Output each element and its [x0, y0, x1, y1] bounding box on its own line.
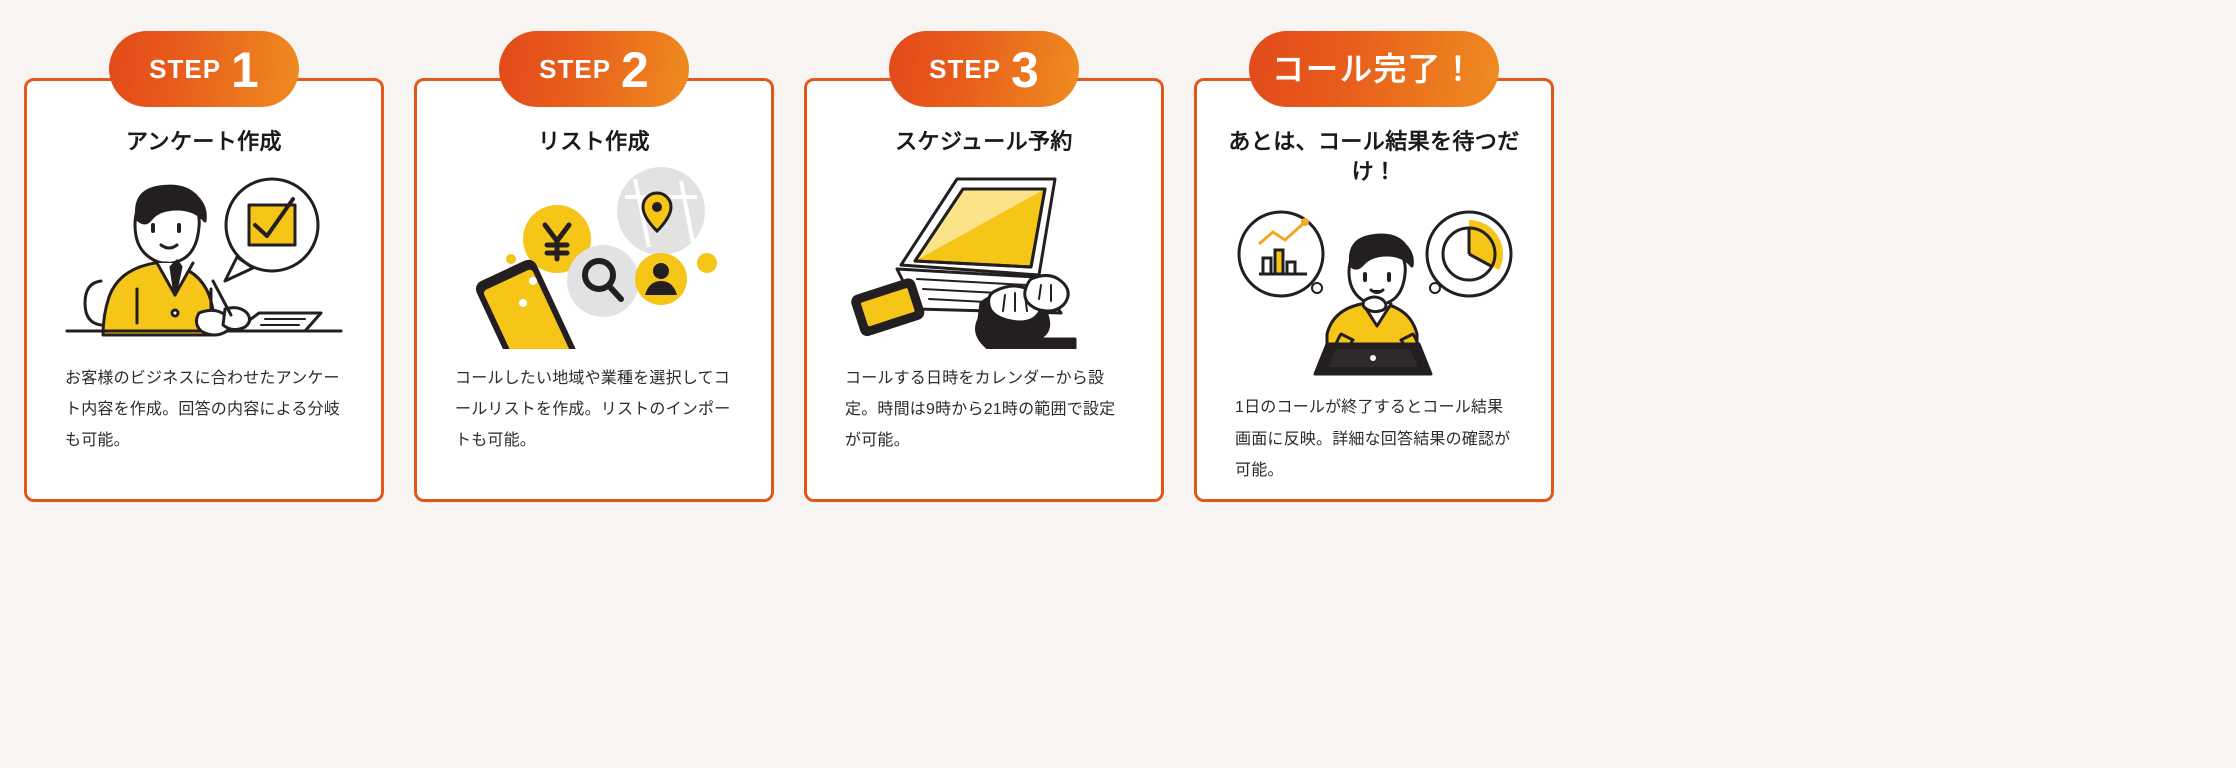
step-card-title-4: あとは、コール結果を待つだけ！ — [1224, 127, 1524, 186]
step-badge-word-1: STEP — [149, 56, 221, 82]
step-card-title-1: アンケート作成 — [54, 127, 354, 157]
step-badge-word-2: STEP — [539, 56, 611, 82]
steps-card-list: STEP 1 アンケート作成 — [24, 78, 1554, 502]
step-badge-number-3: 3 — [1011, 45, 1039, 95]
step-card-title-3: スケジュール予約 — [834, 127, 1134, 157]
person-laptop-analytics-icon — [1224, 192, 1524, 378]
step-badge-2: STEP 2 — [499, 31, 689, 107]
step-badge-1: STEP 1 — [109, 31, 299, 107]
step-card-body-4: 1日のコールが終了するとコール結果画面に反映。詳細な回答結果の確認が可能。 — [1235, 392, 1513, 486]
smartphone-map-search-list-icon — [444, 163, 744, 349]
businessman-writing-survey-icon — [54, 163, 354, 349]
step-card-4: コール完了！ あとは、コール結果を待つだけ！ — [1194, 78, 1554, 502]
laptop-typing-schedule-icon — [834, 163, 1134, 349]
completion-badge-label: コール完了！ — [1272, 53, 1476, 85]
step-card-body-2: コールしたい地域や業種を選択してコールリストを作成。リストのインポートも可能。 — [455, 363, 733, 457]
step-card-body-3: コールする日時をカレンダーから設定。時間は9時から21時の範囲で設定が可能。 — [845, 363, 1123, 457]
step-card-body-1: お客様のビジネスに合わせたアンケート内容を作成。回答の内容による分岐も可能。 — [65, 363, 343, 457]
step-card-2: STEP 2 リスト作成 — [414, 78, 774, 502]
step-badge-3: STEP 3 — [889, 31, 1079, 107]
step-card-title-2: リスト作成 — [444, 127, 744, 157]
step-badge-word-3: STEP — [929, 56, 1001, 82]
step-badge-number-2: 2 — [621, 45, 649, 95]
step-card-1: STEP 1 アンケート作成 — [24, 78, 384, 502]
completion-badge: コール完了！ — [1249, 31, 1499, 107]
step-badge-number-1: 1 — [231, 45, 259, 95]
steps-flow-board: STEP 1 アンケート作成 — [0, 0, 2236, 768]
step-card-3: STEP 3 スケジュール予約 — [804, 78, 1164, 502]
